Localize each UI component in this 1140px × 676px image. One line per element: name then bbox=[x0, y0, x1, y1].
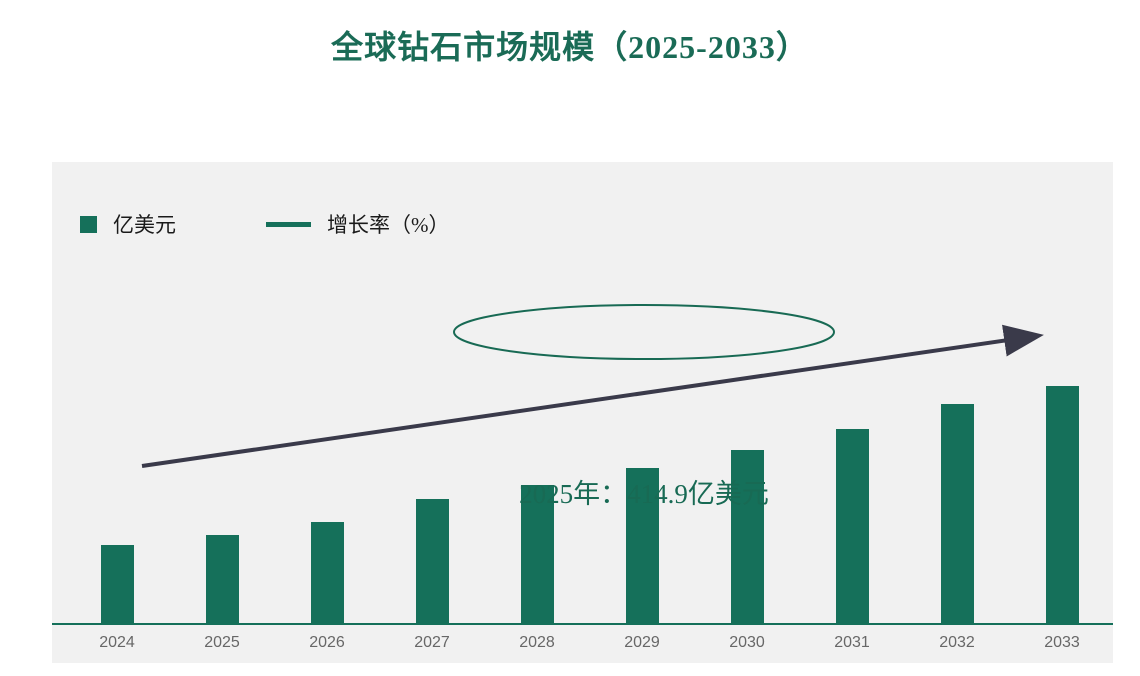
bar-2024[interactable] bbox=[101, 545, 134, 625]
bar-2025[interactable] bbox=[206, 535, 239, 625]
tick-label-2031: 2031 bbox=[812, 634, 892, 652]
tick-label-2029: 2029 bbox=[602, 634, 682, 652]
bar-2031[interactable] bbox=[836, 429, 869, 625]
plot-panel: 亿美元 增长率（%） bbox=[52, 162, 1113, 663]
tick-label-2028: 2028 bbox=[497, 634, 577, 652]
tick-label-2025: 2025 bbox=[182, 634, 262, 652]
bar-2027[interactable] bbox=[416, 499, 449, 625]
tick-label-2027: 2027 bbox=[392, 634, 472, 652]
chart-title: 全球钻石市场规模（2025-2033） bbox=[0, 22, 1140, 68]
x-axis-tick-labels: 2024 2025 2026 2027 2028 2029 2030 2031 … bbox=[52, 625, 1113, 663]
bar-2032[interactable] bbox=[941, 404, 974, 625]
tick-label-2033: 2033 bbox=[1022, 634, 1102, 652]
tick-label-2024: 2024 bbox=[77, 634, 157, 652]
bar-2033[interactable] bbox=[1046, 386, 1079, 625]
annotation-label: 2025年：414.9亿美元 bbox=[454, 472, 834, 511]
bars-layer bbox=[52, 162, 1113, 663]
bar-2026[interactable] bbox=[311, 522, 344, 625]
tick-label-2032: 2032 bbox=[917, 634, 997, 652]
tick-label-2026: 2026 bbox=[287, 634, 367, 652]
tick-label-2030: 2030 bbox=[707, 634, 787, 652]
chart-root: 全球钻石市场规模（2025-2033） 亿美元 增长率（%） bbox=[0, 0, 1140, 676]
